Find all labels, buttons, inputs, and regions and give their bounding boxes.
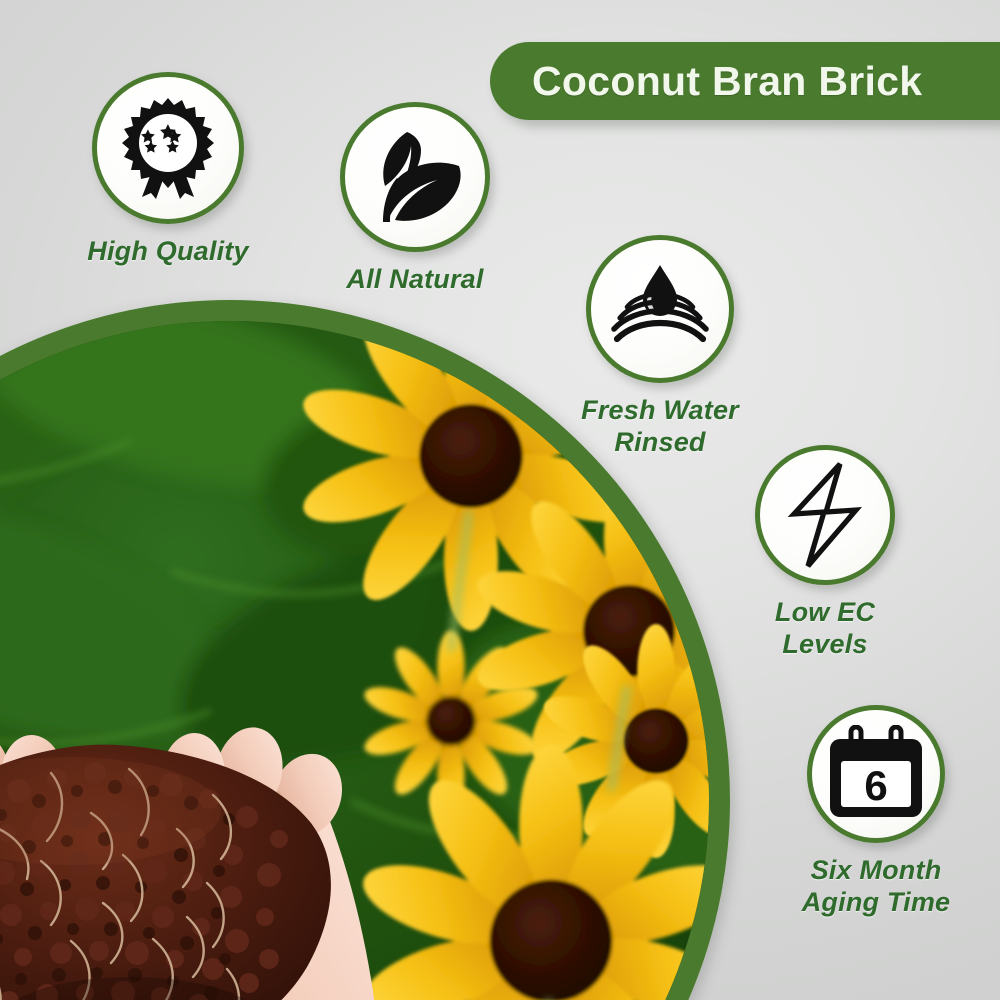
badge-circle-all-natural: [340, 102, 490, 252]
badge-circle-fresh-water: [586, 235, 734, 383]
badge-label-low-ec: Low EC Levels: [715, 597, 935, 661]
lightning-bolt-icon: [786, 460, 864, 570]
badge-circle-six-month: 6: [807, 705, 945, 843]
feature-badge-low-ec: Low EC Levels: [715, 445, 935, 661]
feature-badge-six-month: 6 Six Month Aging Time: [762, 705, 990, 919]
page-title: Coconut Bran Brick: [532, 58, 922, 105]
feature-badge-all-natural: All Natural: [310, 102, 520, 296]
calendar-icon: 6: [824, 725, 928, 823]
calendar-number: 6: [864, 762, 887, 809]
badge-label-all-natural: All Natural: [310, 264, 520, 296]
badge-label-six-month: Six Month Aging Time: [762, 855, 990, 919]
badge-circle-low-ec: [755, 445, 895, 585]
award-rosette-icon: [118, 96, 218, 200]
feature-badge-high-quality: High Quality: [58, 72, 278, 268]
badge-label-high-quality: High Quality: [58, 236, 278, 268]
badge-circle-high-quality: [92, 72, 244, 224]
infographic-canvas: Coconut Bran Brick High Qu: [0, 0, 1000, 1000]
leaves-icon: [363, 128, 467, 226]
feature-badge-fresh-water: Fresh Water Rinsed: [545, 235, 775, 459]
product-title-banner: Coconut Bran Brick: [490, 42, 1000, 120]
water-droplet-ripple-icon: [607, 263, 713, 355]
